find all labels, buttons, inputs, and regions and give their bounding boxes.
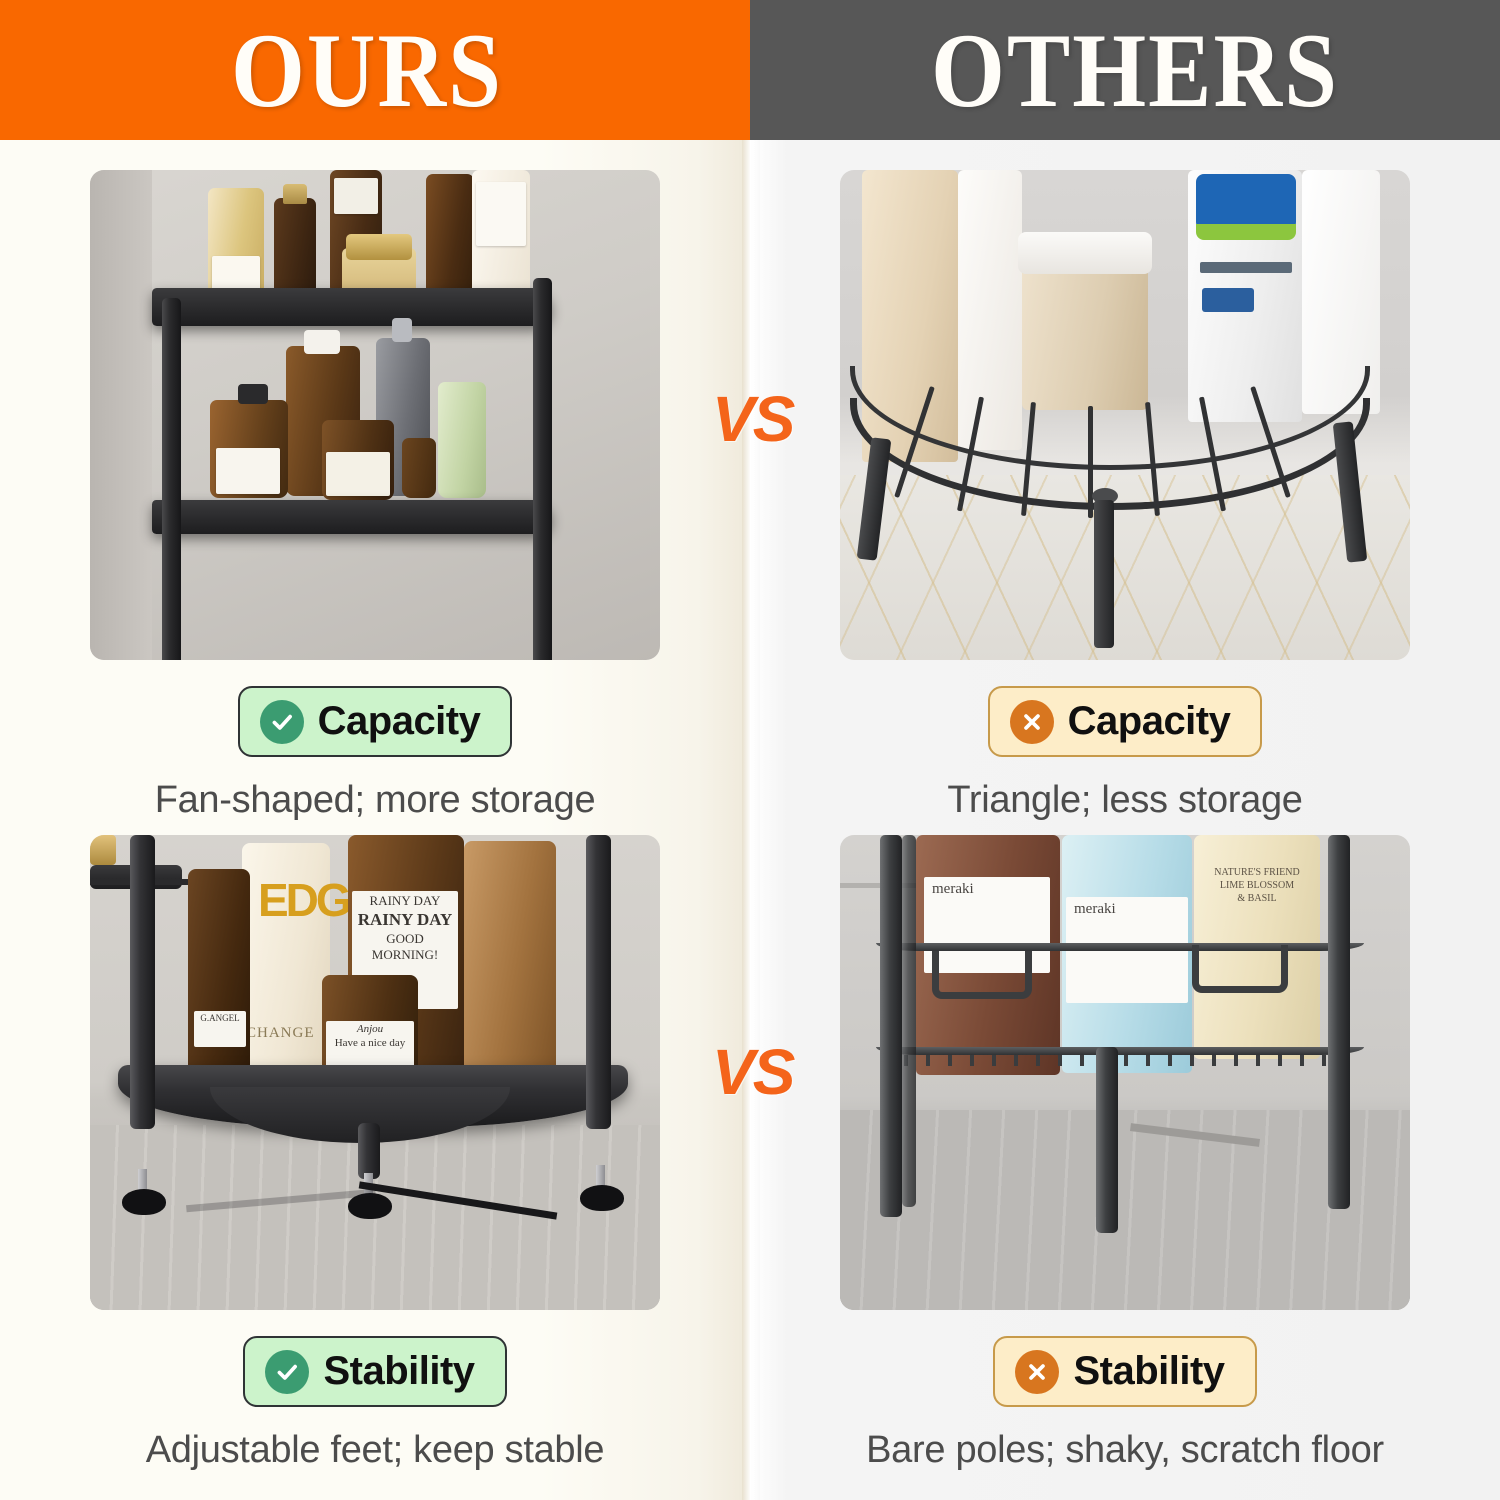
comparison-header: OURS OTHERS: [0, 0, 1500, 140]
comparison-grid: Capacity Fan-shaped; more storage: [0, 140, 1500, 1500]
badge-others-stability: Stability: [993, 1336, 1256, 1407]
cell-ours-capacity: Capacity Fan-shaped; more storage: [0, 140, 750, 805]
badge-others-capacity: Capacity: [988, 686, 1263, 757]
photo-others-stability: meraki meraki NATURE'S FRIENDLIME BLOSSO…: [840, 835, 1410, 1310]
badge-label: Stability: [323, 1349, 474, 1394]
photo-ours-capacity: [90, 170, 660, 660]
x-circle-icon: [1010, 700, 1054, 744]
cell-others-stability: meraki meraki NATURE'S FRIENDLIME BLOSSO…: [750, 805, 1500, 1500]
photo-others-capacity: [840, 170, 1410, 660]
badge-ours-capacity: Capacity: [238, 686, 513, 757]
x-circle-icon: [1015, 1350, 1059, 1394]
vs-marker-stability: VS: [712, 1035, 793, 1109]
check-circle-icon: [265, 1350, 309, 1394]
header-ours-title: OURS: [231, 17, 503, 123]
header-others-title: OTHERS: [931, 17, 1339, 123]
vs-marker-capacity: VS: [712, 382, 793, 456]
badge-label: Capacity: [318, 699, 481, 744]
caption-ours-stability: Adjustable feet; keep stable: [146, 1429, 604, 1472]
caption-others-stability: Bare poles; shaky, scratch floor: [866, 1429, 1384, 1472]
header-ours: OURS: [0, 0, 750, 140]
badge-label: Stability: [1073, 1349, 1224, 1394]
badge-ours-stability: Stability: [243, 1336, 506, 1407]
header-others: OTHERS: [750, 0, 1500, 140]
badge-label: Capacity: [1068, 699, 1231, 744]
cell-ours-stability: EDG CHANGE G.ANGEL RAINY DAYRAINY DAYGOO…: [0, 805, 750, 1500]
cell-others-capacity: Capacity Triangle; less storage: [750, 140, 1500, 805]
photo-ours-stability: EDG CHANGE G.ANGEL RAINY DAYRAINY DAYGOO…: [90, 835, 660, 1310]
check-circle-icon: [260, 700, 304, 744]
